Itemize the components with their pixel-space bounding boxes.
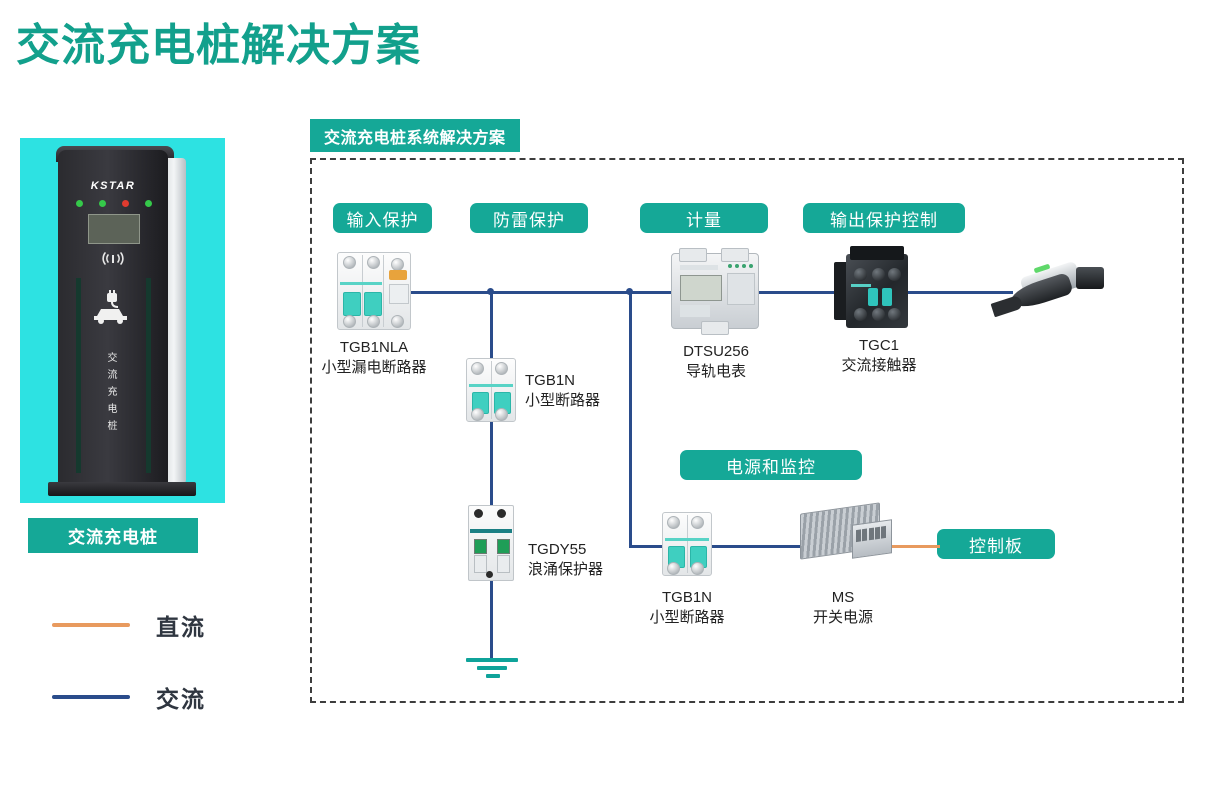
component-ms-power-supply: [800, 508, 892, 568]
label-dtsu256: DTSU256导轨电表: [648, 342, 784, 382]
ground-symbol: [466, 658, 518, 678]
wire-ac-mcb-to-spd: [490, 420, 493, 510]
legend-swatch-dc: [52, 623, 130, 627]
label-tgb1nla: TGB1NLA小型漏电断路器: [295, 338, 453, 378]
legend-label-ac: 交流: [156, 680, 206, 714]
component-tgdy55-spd: [468, 505, 514, 581]
wire-node-junction-left: [487, 288, 494, 295]
section-pill-surge-protection: 防雷保护: [470, 203, 588, 233]
diagram-dashed-frame: [310, 158, 1184, 703]
component-tgb1n-mcb-upper: [466, 358, 516, 422]
component-charging-gun: [990, 255, 1110, 325]
label-tgc1: TGC1交流接触器: [820, 336, 938, 376]
product-caption: 交流充电桩: [28, 518, 198, 553]
product-image-ac-charging-pile: KSTAR: [20, 138, 225, 503]
component-tgb1nla-rcbo: [337, 252, 411, 330]
section-pill-control-board: 控制板: [937, 529, 1055, 559]
brand-logo-text: KSTAR: [58, 180, 168, 192]
wire-ac-mcb-to-psu: [710, 545, 802, 548]
section-pill-input-protection: 输入保护: [333, 203, 432, 233]
pile-front-body: KSTAR: [58, 150, 168, 488]
label-tgb1n-upper: TGB1N小型断路器: [525, 371, 635, 411]
legend-item-dc: 直流: [52, 608, 206, 642]
wire-ac-spd-to-ground: [490, 580, 493, 660]
wire-ac-bus-left: [406, 291, 685, 294]
wire-ac-drop-to-mcb: [490, 291, 493, 363]
component-tgc1-contactor: [846, 254, 908, 328]
component-dtsu256-meter: [671, 253, 759, 329]
legend: 直流 交流: [52, 608, 206, 714]
label-tgb1n-lower: TGB1N小型断路器: [630, 588, 744, 628]
legend-label-dc: 直流: [156, 608, 206, 642]
section-pill-power-monitoring: 电源和监控: [680, 450, 862, 480]
wire-node-junction-right: [626, 288, 633, 295]
component-tgb1n-mcb-lower: [662, 512, 712, 576]
pile-vertical-label: 交流充电桩: [58, 350, 168, 435]
legend-swatch-ac: [52, 695, 130, 699]
ev-charging-icon: [58, 290, 168, 329]
wire-ac-branch-down: [629, 291, 632, 547]
rfid-wireless-icon: [58, 250, 168, 272]
status-led-row: [76, 200, 152, 207]
label-tgdy55: TGDY55浪涌保护器: [528, 540, 638, 580]
page-title: 交流充电桩解决方案: [16, 22, 421, 70]
display-screen: [88, 214, 140, 244]
system-banner-title: 交流充电桩系统解决方案: [310, 119, 520, 152]
legend-item-ac: 交流: [52, 680, 206, 714]
section-pill-output-control: 输出保护控制: [803, 203, 965, 233]
label-ms-psu: MS开关电源: [790, 588, 896, 628]
pile-base-plate: [48, 482, 196, 496]
pile-cable-holder: [160, 286, 196, 406]
section-pill-metering: 计量: [640, 203, 768, 233]
